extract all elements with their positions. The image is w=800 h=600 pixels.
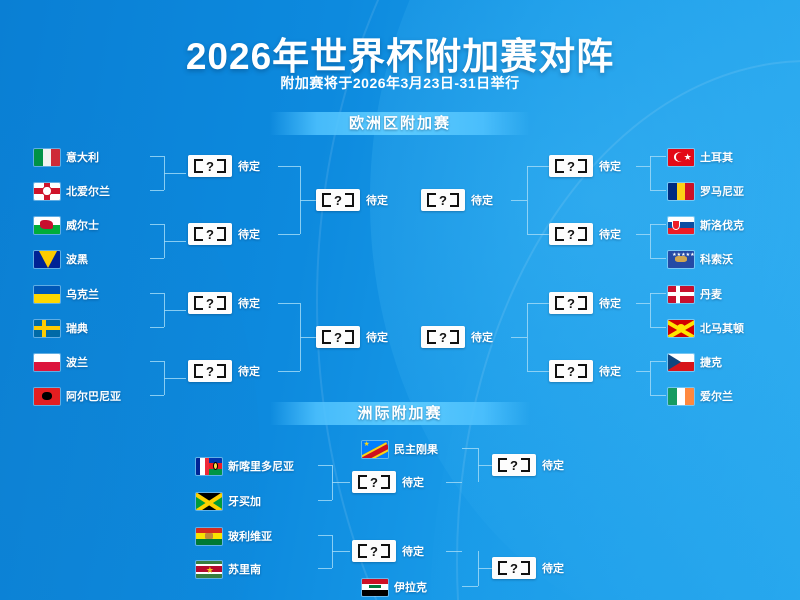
bracket-poster: 2026年世界杯附加赛对阵 附加赛将于2026年3月23日-31日举行 欧洲区附…: [0, 0, 800, 600]
new-caledonia-flag: [196, 458, 222, 475]
connector-line: [650, 258, 666, 259]
tbd-label: 待定: [599, 226, 621, 242]
tbd-slot[interactable]: ?待定: [492, 454, 564, 476]
tbd-slot[interactable]: ?待定: [492, 557, 564, 579]
tbd-label: 待定: [542, 457, 564, 473]
question-mark-icon: ?: [188, 155, 232, 177]
connector-line: [636, 234, 650, 235]
team-name: 意大利: [66, 149, 99, 165]
question-mark-icon: ?: [352, 471, 396, 493]
team-row[interactable]: 阿尔巴尼亚: [34, 387, 121, 405]
team-name: 土耳其: [700, 149, 733, 165]
team-name: 牙买加: [228, 493, 261, 509]
connector-line: [318, 500, 332, 501]
connector-line: [478, 568, 492, 569]
team-row[interactable]: 波黑: [34, 250, 88, 268]
question-mark-icon: ?: [188, 360, 232, 382]
tbd-label: 待定: [402, 543, 424, 559]
tbd-slot[interactable]: ?待定: [352, 471, 424, 493]
team-row[interactable]: ★苏里南: [196, 560, 261, 578]
team-row[interactable]: 乌克兰: [34, 285, 99, 303]
connector-line: [636, 166, 650, 167]
wales-flag: [34, 217, 60, 234]
connector-line: [650, 224, 651, 258]
connector-line: [650, 156, 651, 190]
connector-line: [527, 166, 549, 167]
ukraine-flag: [34, 286, 60, 303]
connector-line: [650, 156, 666, 157]
connector-line: [150, 258, 164, 259]
connector-line: [636, 371, 650, 372]
team-row[interactable]: 丹麦: [668, 285, 722, 303]
connector-line: [650, 224, 666, 225]
question-mark-icon: ?: [316, 326, 360, 348]
romania-flag: [668, 183, 694, 200]
tbd-label: 待定: [542, 560, 564, 576]
team-name: 瑞典: [66, 320, 88, 336]
tbd-label: 待定: [366, 329, 388, 345]
tbd-label: 待定: [238, 158, 260, 174]
tbd-label: 待定: [599, 158, 621, 174]
connector-line: [332, 482, 350, 483]
tbd-slot[interactable]: ?待定: [549, 292, 621, 314]
connector-line: [164, 310, 186, 311]
connector-line: [300, 337, 316, 338]
connector-line: [300, 200, 316, 201]
team-name: 伊拉克: [394, 579, 427, 595]
tbd-slot[interactable]: ?待定: [188, 292, 260, 314]
team-row[interactable]: 北马其顿: [668, 319, 744, 337]
poland-flag: [34, 354, 60, 371]
page-title: 2026年世界杯附加赛对阵: [0, 26, 800, 80]
connector-line: [650, 327, 666, 328]
tbd-slot[interactable]: ?待定: [352, 540, 424, 562]
tbd-slot[interactable]: ?待定: [188, 223, 260, 245]
kosovo-flag: ★★★★★★: [668, 251, 694, 268]
team-row[interactable]: 斯洛伐克: [668, 216, 744, 234]
northern-ireland-flag: [34, 183, 60, 200]
connector-line: [150, 156, 164, 157]
bosnia-flag: [34, 251, 60, 268]
suriname-flag: ★: [196, 561, 222, 578]
tbd-slot[interactable]: ?待定: [188, 155, 260, 177]
tbd-slot[interactable]: ?待定: [549, 223, 621, 245]
connector-line: [636, 303, 650, 304]
question-mark-icon: ?: [421, 189, 465, 211]
connector-line: [527, 303, 549, 304]
team-name: 丹麦: [700, 286, 722, 302]
connector-line: [318, 535, 332, 536]
question-mark-icon: ?: [352, 540, 396, 562]
team-name: 罗马尼亚: [700, 183, 744, 199]
connector-line: [462, 586, 478, 587]
question-mark-icon: ?: [188, 292, 232, 314]
connector-line: [150, 190, 164, 191]
bolivia-flag: [196, 528, 222, 545]
connector-line: [150, 361, 164, 362]
connector-line: [150, 395, 164, 396]
team-row[interactable]: 意大利: [34, 148, 99, 166]
team-name: 苏里南: [228, 561, 261, 577]
section-banner-intercontinental: 洲际附加赛: [270, 402, 530, 425]
question-mark-icon: ?: [316, 189, 360, 211]
question-mark-icon: ?: [549, 292, 593, 314]
team-name: 民主刚果: [394, 441, 438, 457]
connector-line: [650, 361, 651, 395]
connector-line: [527, 166, 528, 234]
connector-line: [164, 378, 186, 379]
albania-flag: [34, 388, 60, 405]
connector-line: [150, 224, 164, 225]
team-row[interactable]: 北爱尔兰: [34, 182, 110, 200]
team-row[interactable]: 牙买加: [196, 492, 261, 510]
connector-line: [278, 303, 300, 304]
team-name: 斯洛伐克: [700, 217, 744, 233]
north-macedonia-flag: [668, 320, 694, 337]
question-mark-icon: ?: [549, 155, 593, 177]
tbd-slot[interactable]: ?待定: [549, 360, 621, 382]
team-row[interactable]: 玻利维亚: [196, 527, 272, 545]
team-name: 玻利维亚: [228, 528, 272, 544]
team-row[interactable]: ★★★★★★科索沃: [668, 250, 733, 268]
connector-line: [164, 241, 186, 242]
tbd-slot[interactable]: ?待定: [188, 360, 260, 382]
team-row[interactable]: 波兰: [34, 353, 88, 371]
tbd-label: 待定: [402, 474, 424, 490]
connector-line: [650, 293, 666, 294]
connector-line: [650, 395, 666, 396]
tbd-label: 待定: [238, 363, 260, 379]
denmark-flag: [668, 286, 694, 303]
team-name: 捷克: [700, 354, 722, 370]
czechia-flag: [668, 354, 694, 371]
team-row[interactable]: 新喀里多尼亚: [196, 457, 294, 475]
jamaica-flag: [196, 493, 222, 510]
team-row[interactable]: 瑞典: [34, 319, 88, 337]
team-row[interactable]: 罗马尼亚: [668, 182, 744, 200]
team-name: 北马其顿: [700, 320, 744, 336]
section-banner-europe: 欧洲区附加赛: [270, 112, 530, 135]
question-mark-icon: ?: [188, 223, 232, 245]
connector-line: [278, 371, 300, 372]
tbd-label: 待定: [238, 226, 260, 242]
team-name: 威尔士: [66, 217, 99, 233]
tbd-slot[interactable]: ?待定: [421, 189, 493, 211]
team-name: 波黑: [66, 251, 88, 267]
connector-line: [527, 303, 528, 371]
question-mark-icon: ?: [549, 223, 593, 245]
connector-line: [511, 200, 527, 201]
tbd-label: 待定: [599, 363, 621, 379]
team-row[interactable]: ★民主刚果: [362, 440, 438, 458]
question-mark-icon: ?: [492, 557, 536, 579]
team-row[interactable]: 捷克: [668, 353, 722, 371]
tbd-slot[interactable]: ?待定: [549, 155, 621, 177]
connector-line: [650, 361, 666, 362]
dr-congo-flag: ★: [362, 441, 388, 458]
connector-line: [650, 293, 651, 327]
italy-flag: [34, 149, 60, 166]
question-mark-icon: ?: [421, 326, 465, 348]
connector-line: [527, 234, 549, 235]
tbd-slot[interactable]: ?待定: [421, 326, 493, 348]
team-name: 波兰: [66, 354, 88, 370]
turkey-flag: ★: [668, 149, 694, 166]
connector-line: [446, 482, 462, 483]
connector-line: [446, 551, 462, 552]
connector-line: [150, 293, 164, 294]
connector-line: [650, 190, 666, 191]
team-name: 新喀里多尼亚: [228, 458, 294, 474]
team-name: 北爱尔兰: [66, 183, 110, 199]
team-row[interactable]: 爱尔兰: [668, 387, 733, 405]
connector-line: [278, 234, 300, 235]
team-name: 阿尔巴尼亚: [66, 388, 121, 404]
connector-line: [478, 465, 492, 466]
connector-line: [318, 568, 332, 569]
connector-line: [164, 173, 186, 174]
question-mark-icon: ?: [549, 360, 593, 382]
team-name: 乌克兰: [66, 286, 99, 302]
team-row[interactable]: ★土耳其: [668, 148, 733, 166]
sweden-flag: [34, 320, 60, 337]
team-row[interactable]: 威尔士: [34, 216, 99, 234]
team-name: 爱尔兰: [700, 388, 733, 404]
connector-line: [318, 465, 332, 466]
connector-line: [150, 327, 164, 328]
tbd-label: 待定: [471, 329, 493, 345]
tbd-label: 待定: [471, 192, 493, 208]
slovakia-flag: [668, 217, 694, 234]
question-mark-icon: ?: [492, 454, 536, 476]
team-row[interactable]: 伊拉克: [362, 578, 427, 596]
team-name: 科索沃: [700, 251, 733, 267]
connector-line: [511, 337, 527, 338]
ireland-flag: [668, 388, 694, 405]
tbd-label: 待定: [366, 192, 388, 208]
page-subtitle: 附加赛将于2026年3月23日-31日举行: [0, 73, 800, 93]
connector-line: [278, 166, 300, 167]
connector-line: [527, 371, 549, 372]
connector-line: [332, 551, 350, 552]
tbd-label: 待定: [238, 295, 260, 311]
connector-line: [462, 448, 478, 449]
tbd-slot[interactable]: ?待定: [316, 189, 388, 211]
tbd-label: 待定: [599, 295, 621, 311]
tbd-slot[interactable]: ?待定: [316, 326, 388, 348]
iraq-flag: [362, 579, 388, 596]
